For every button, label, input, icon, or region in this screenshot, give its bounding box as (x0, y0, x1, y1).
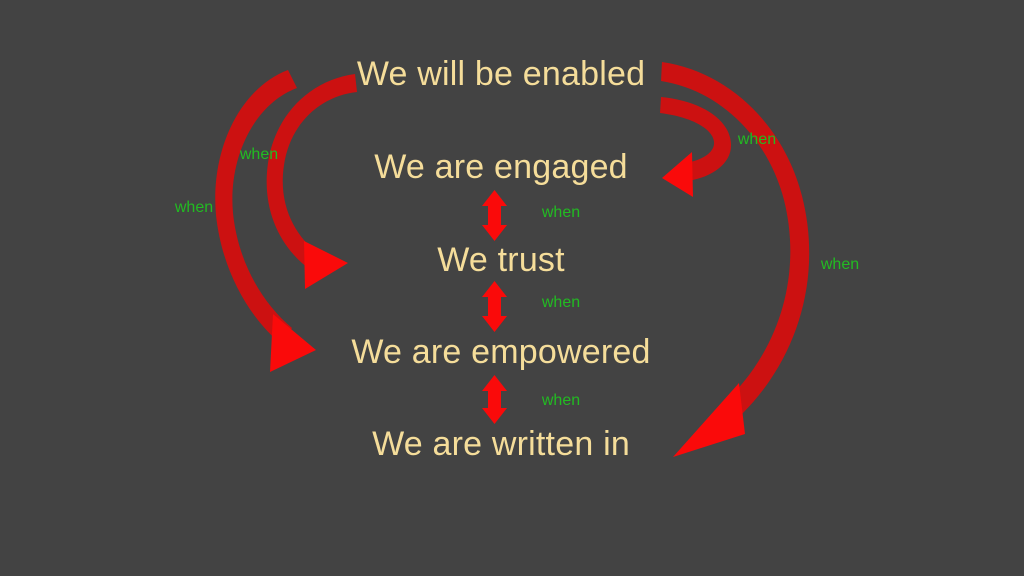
when-label-outer-right: when (821, 257, 859, 273)
node-label-engaged: We are engaged (374, 150, 628, 184)
arrow-engaged-trust (482, 190, 507, 241)
arrow-empowered-written (482, 375, 507, 424)
arc-enabled-to-engaged (660, 97, 731, 197)
arc-enabled-to-trust (267, 74, 357, 289)
when-label-inner-left: when (240, 147, 278, 163)
diagram-slide: We will be enabled We are engaged We tru… (0, 0, 1024, 576)
when-label-empowered-written: when (542, 393, 580, 409)
when-label-inner-right: when (738, 132, 776, 148)
arrow-trust-empowered (482, 281, 507, 332)
node-label-enabled: We will be enabled (357, 57, 645, 91)
node-label-empowered: We are empowered (351, 335, 650, 369)
when-label-outer-left: when (175, 200, 213, 216)
when-label-trust-empowered: when (542, 295, 580, 311)
arc-enabled-to-written-in (661, 62, 809, 457)
node-label-written-in: We are written in (372, 427, 630, 461)
when-label-engaged-trust: when (542, 205, 580, 221)
node-label-trust: We trust (437, 243, 565, 277)
